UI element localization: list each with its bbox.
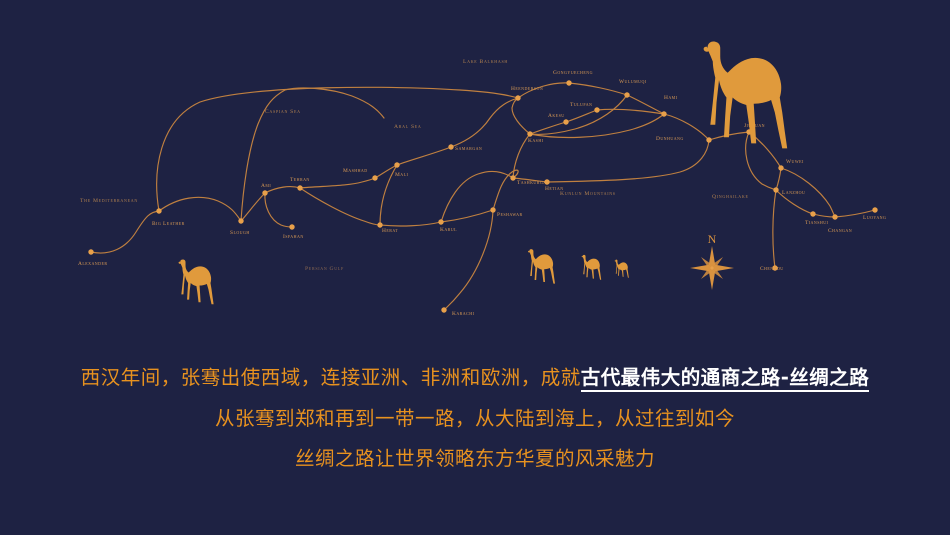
map-place-peshawar[interactable]: Peshawar xyxy=(490,207,522,218)
map-place-wuwei[interactable]: Wuwei xyxy=(778,159,804,171)
city-label: Samargan xyxy=(455,146,482,152)
city-label: Aral Sea xyxy=(394,124,421,130)
map-place-tulufan[interactable]: Tulufan xyxy=(570,102,600,113)
city-node-dot[interactable] xyxy=(297,185,302,190)
city-label: Peshawar xyxy=(497,212,523,218)
route-hetian-dunhuang xyxy=(547,140,709,182)
city-label: Wulumuqi xyxy=(619,79,647,85)
map-place-the-mediterranean: The Mediterranean xyxy=(80,198,138,204)
city-label: Caspian Sea xyxy=(265,109,301,115)
map-place-wulumuqi[interactable]: Wulumuqi xyxy=(619,79,647,98)
city-node-dot[interactable] xyxy=(810,211,815,216)
map-place-dunhuang[interactable]: Dunhuang xyxy=(656,136,712,143)
city-node-dot[interactable] xyxy=(661,111,666,116)
city-label: Wuwei xyxy=(786,159,804,165)
city-node-dot[interactable] xyxy=(832,214,837,219)
city-label: Mali xyxy=(395,172,408,178)
map-place-karachi[interactable]: Karachi xyxy=(441,307,474,317)
city-node-dot[interactable] xyxy=(872,207,877,212)
city-label: Mashhad xyxy=(343,168,368,174)
city-node-dot[interactable] xyxy=(372,175,377,180)
map-place-mali[interactable]: Mali xyxy=(394,162,408,178)
caption-block: 西汉年间，张骞出使西域，连接亚洲、非洲和欧洲，成就古代最伟大的通商之路-丝绸之路… xyxy=(0,368,950,469)
city-label: Isfahan xyxy=(283,234,304,240)
map-place-tianshui[interactable]: Tianshui xyxy=(805,211,829,226)
map-place-aral-sea: Aral Sea xyxy=(394,124,421,130)
city-node-dot[interactable] xyxy=(566,80,571,85)
map-place-alexander[interactable]: Alexander xyxy=(78,249,108,267)
route-wuwei-lanzhou xyxy=(776,168,781,190)
city-label: Tianshui xyxy=(805,220,829,226)
route-kashi-heenderson xyxy=(512,98,530,134)
city-node-dot[interactable] xyxy=(490,207,495,212)
city-label: Hami xyxy=(664,95,678,101)
city-label: Chengdu xyxy=(760,266,784,272)
city-label: Akesu xyxy=(548,113,565,119)
city-node-dot[interactable] xyxy=(441,307,446,312)
city-node-dot[interactable] xyxy=(238,218,243,223)
route-lanzhou-chengdu xyxy=(773,190,776,268)
camel-illustration-left xyxy=(179,259,214,304)
route-kabul-peshawar xyxy=(441,210,493,222)
map-place-heenderson[interactable]: Heenderson xyxy=(511,86,543,101)
map-place-qinghailake: Qinghailake xyxy=(712,194,749,200)
city-node-dot[interactable] xyxy=(706,137,711,142)
silk-road-poster: AlexanderBig LeatherThe MediterraneanSlo… xyxy=(0,0,950,535)
city-node-dot[interactable] xyxy=(377,222,382,227)
map-place-chengdu[interactable]: Chengdu xyxy=(760,265,784,272)
city-node-dot[interactable] xyxy=(778,165,783,170)
city-label: Herat xyxy=(382,228,398,234)
map-place-luoyang[interactable]: Luoyang xyxy=(863,207,886,221)
map-place-tashkurgan[interactable]: Tashkurgan xyxy=(510,175,550,186)
city-node-dot[interactable] xyxy=(289,224,294,229)
route-slough-ami xyxy=(241,193,265,221)
route-samargan-heenderson xyxy=(451,98,518,147)
map-place-samargan[interactable]: Samargan xyxy=(448,144,482,152)
map-place-herat[interactable]: Herat xyxy=(377,222,398,234)
city-label: Heenderson xyxy=(511,86,543,92)
map-place-tehran[interactable]: Tehran xyxy=(290,177,310,191)
route-peshawar-karachi xyxy=(444,210,493,310)
map-place-big-leather[interactable]: Big Leather xyxy=(152,208,185,227)
map-place-akesu[interactable]: Akesu xyxy=(548,113,569,125)
map-place-persian-gulf: Persian Gulf xyxy=(305,266,344,272)
caption-line-1: 西汉年间，张骞出使西域，连接亚洲、非洲和欧洲，成就古代最伟大的通商之路-丝绸之路 xyxy=(0,368,950,388)
caption-line-3: 丝绸之路让世界领略东方华夏的风采魅力 xyxy=(0,449,950,469)
city-label: Luoyang xyxy=(863,215,886,221)
map-place-kunlun-mountains: Kunlun Mountains xyxy=(560,191,616,197)
city-label: Tulufan xyxy=(570,102,592,108)
compass-north-label: N xyxy=(708,232,717,246)
city-node-dot[interactable] xyxy=(88,249,93,254)
city-label: Lanzhou xyxy=(782,190,805,196)
route-tehran-mashhad xyxy=(300,178,375,188)
city-node-dot[interactable] xyxy=(773,187,778,192)
city-node-dot[interactable] xyxy=(624,92,629,97)
city-label: Lake Balkhash xyxy=(463,59,508,65)
city-label: Qinghailake xyxy=(712,194,749,200)
map-place-ami[interactable]: Ami xyxy=(261,183,271,196)
route-ami-isfahan xyxy=(265,193,292,227)
map-place-caspian-sea: Caspian Sea xyxy=(265,109,301,115)
caption-line-1-emphasis: 古代最伟大的通商之路-丝绸之路 xyxy=(581,366,870,392)
city-label: Persian Gulf xyxy=(305,266,344,272)
map-place-mashhad[interactable]: Mashhad xyxy=(343,168,378,181)
city-node-dot[interactable] xyxy=(394,162,399,167)
city-node-dot[interactable] xyxy=(448,144,453,149)
city-node-dot[interactable] xyxy=(156,208,161,213)
city-label: Kashi xyxy=(528,138,544,144)
route-tianshui-changan xyxy=(813,214,835,217)
city-label: Tehran xyxy=(290,177,310,183)
city-label: Gongyuecheng xyxy=(553,70,593,76)
route-tulufan-hami xyxy=(597,109,664,114)
city-label: Dunhuang xyxy=(656,136,684,142)
route-mali-samargan xyxy=(397,147,451,165)
map-place-kashi[interactable]: Kashi xyxy=(527,131,543,144)
caption-line-1-prefix: 西汉年间，张骞出使西域，连接亚洲、非洲和欧洲，成就 xyxy=(81,366,581,389)
city-node-dot[interactable] xyxy=(510,175,515,180)
route-tehran-herat xyxy=(300,188,380,225)
route-jiuquan-lanzhou-west xyxy=(746,132,776,190)
map-place-slough[interactable]: Slough xyxy=(230,218,250,236)
city-label: Ami xyxy=(261,183,271,189)
city-label: Kabul xyxy=(440,227,457,233)
city-label: Alexander xyxy=(78,261,108,267)
compass-rose: N xyxy=(690,232,734,290)
map-place-lanzhou[interactable]: Lanzhou xyxy=(773,187,805,196)
city-label: Big Leather xyxy=(152,221,185,227)
route-alexander-bigleather xyxy=(91,211,159,253)
city-label: Slough xyxy=(230,230,250,236)
city-node-dot[interactable] xyxy=(527,131,532,136)
route-bigleather-slough xyxy=(159,197,241,221)
city-label: Changan xyxy=(828,228,852,234)
camel-caravan xyxy=(528,249,629,283)
city-node-dot[interactable] xyxy=(262,190,267,195)
route-herat-kabul xyxy=(380,222,441,226)
route-akesu-tulufan xyxy=(566,110,597,122)
city-label: The Mediterranean xyxy=(80,198,138,204)
city-node-dot[interactable] xyxy=(515,95,520,100)
map-place-lake-balkhash: Lake Balkhash xyxy=(463,59,508,65)
caption-line-2: 从张骞到郑和再到一带一路，从大陆到海上，从过往到如今 xyxy=(0,409,950,429)
city-node-dot[interactable] xyxy=(594,107,599,112)
city-node-dot[interactable] xyxy=(563,119,568,124)
map-place-hami[interactable]: Hami xyxy=(661,95,677,117)
city-node-dot[interactable] xyxy=(544,179,549,184)
city-label: Kunlun Mountains xyxy=(560,191,616,197)
city-node-dot[interactable] xyxy=(438,219,443,224)
city-label: Karachi xyxy=(452,311,475,317)
